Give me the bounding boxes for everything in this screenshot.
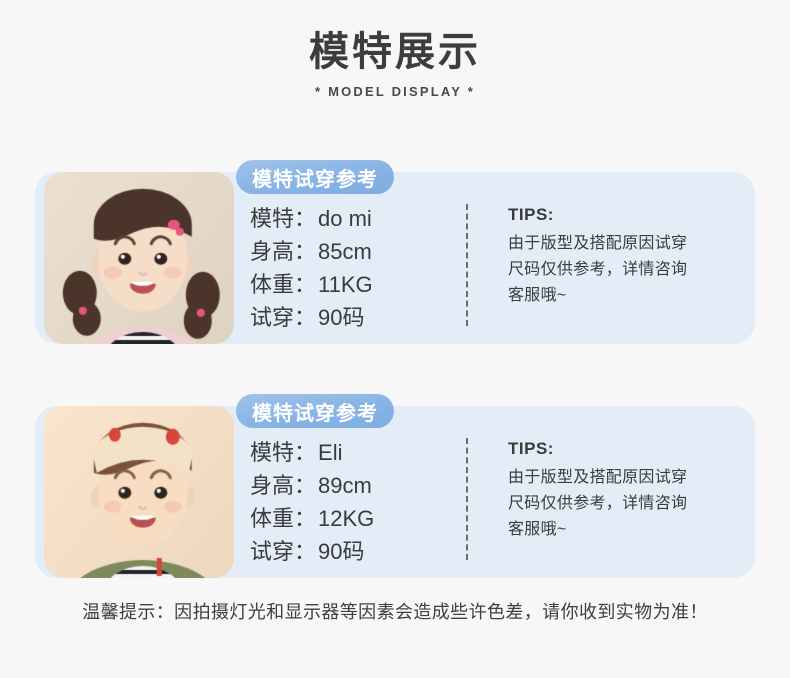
tips-body: 由于版型及搭配原因试穿 尺码仅供参考，详情咨询 客服哦~ <box>508 231 746 309</box>
spec-row: 体重： 11KG <box>250 268 470 301</box>
tips-line: 客服哦~ <box>508 517 746 543</box>
spec-value: 85cm <box>318 235 372 268</box>
footer-note: 温馨提示：因拍摄灯光和显示器等因素会造成些许色差，请你收到实物为准！ <box>0 598 790 624</box>
tips-line: 由于版型及搭配原因试穿 <box>508 465 746 491</box>
model-card: 模特试穿参考 模特： Eli 身高： 89cm 体重： 12KG 试穿： 90码… <box>35 406 755 578</box>
spec-row: 试穿： 90码 <box>250 301 470 334</box>
tips-line: 由于版型及搭配原因试穿 <box>508 231 746 257</box>
model-badge: 模特试穿参考 <box>236 160 394 194</box>
tips-title: TIPS: <box>508 436 746 462</box>
tips-block: TIPS: 由于版型及搭配原因试穿 尺码仅供参考，详情咨询 客服哦~ <box>508 202 746 309</box>
spec-label: 身高： <box>250 235 316 268</box>
spec-value: 12KG <box>318 502 374 535</box>
spec-value: 89cm <box>318 469 372 502</box>
tips-block: TIPS: 由于版型及搭配原因试穿 尺码仅供参考，详情咨询 客服哦~ <box>508 436 746 543</box>
spec-row: 体重： 12KG <box>250 502 470 535</box>
spec-value: 11KG <box>318 268 373 301</box>
spec-label: 模特： <box>250 436 316 469</box>
tips-line: 客服哦~ <box>508 283 746 309</box>
spec-label: 试穿： <box>250 535 316 568</box>
spec-row: 模特： do mi <box>250 202 470 235</box>
spec-row: 身高： 85cm <box>250 235 470 268</box>
dashed-divider <box>466 438 468 560</box>
model-spec-list: 模特： do mi 身高： 85cm 体重： 11KG 试穿： 90码 <box>250 202 470 334</box>
model-photo-canvas <box>44 406 234 578</box>
model-photo-canvas <box>44 172 234 344</box>
spec-label: 试穿： <box>250 301 316 334</box>
page-title: 模特展示 <box>0 26 790 78</box>
tips-title: TIPS: <box>508 202 746 228</box>
model-badge: 模特试穿参考 <box>236 394 394 428</box>
page-header: 模特展示 * MODEL DISPLAY * <box>0 26 790 99</box>
tips-line: 尺码仅供参考，详情咨询 <box>508 491 746 517</box>
spec-value: 90码 <box>318 535 364 568</box>
dashed-divider <box>466 204 468 326</box>
spec-label: 身高： <box>250 469 316 502</box>
spec-label: 体重： <box>250 268 316 301</box>
spec-value: Eli <box>318 436 342 469</box>
model-photo <box>44 406 234 578</box>
model-card: 模特试穿参考 模特： do mi 身高： 85cm 体重： 11KG 试穿： 9… <box>35 172 755 344</box>
spec-value: 90码 <box>318 301 364 334</box>
spec-value: do mi <box>318 202 372 235</box>
spec-row: 身高： 89cm <box>250 469 470 502</box>
spec-label: 模特： <box>250 202 316 235</box>
tips-line: 尺码仅供参考，详情咨询 <box>508 257 746 283</box>
spec-row: 试穿： 90码 <box>250 535 470 568</box>
tips-body: 由于版型及搭配原因试穿 尺码仅供参考，详情咨询 客服哦~ <box>508 465 746 543</box>
model-photo <box>44 172 234 344</box>
model-spec-list: 模特： Eli 身高： 89cm 体重： 12KG 试穿： 90码 <box>250 436 470 568</box>
page-subtitle: * MODEL DISPLAY * <box>0 84 790 99</box>
spec-row: 模特： Eli <box>250 436 470 469</box>
spec-label: 体重： <box>250 502 316 535</box>
